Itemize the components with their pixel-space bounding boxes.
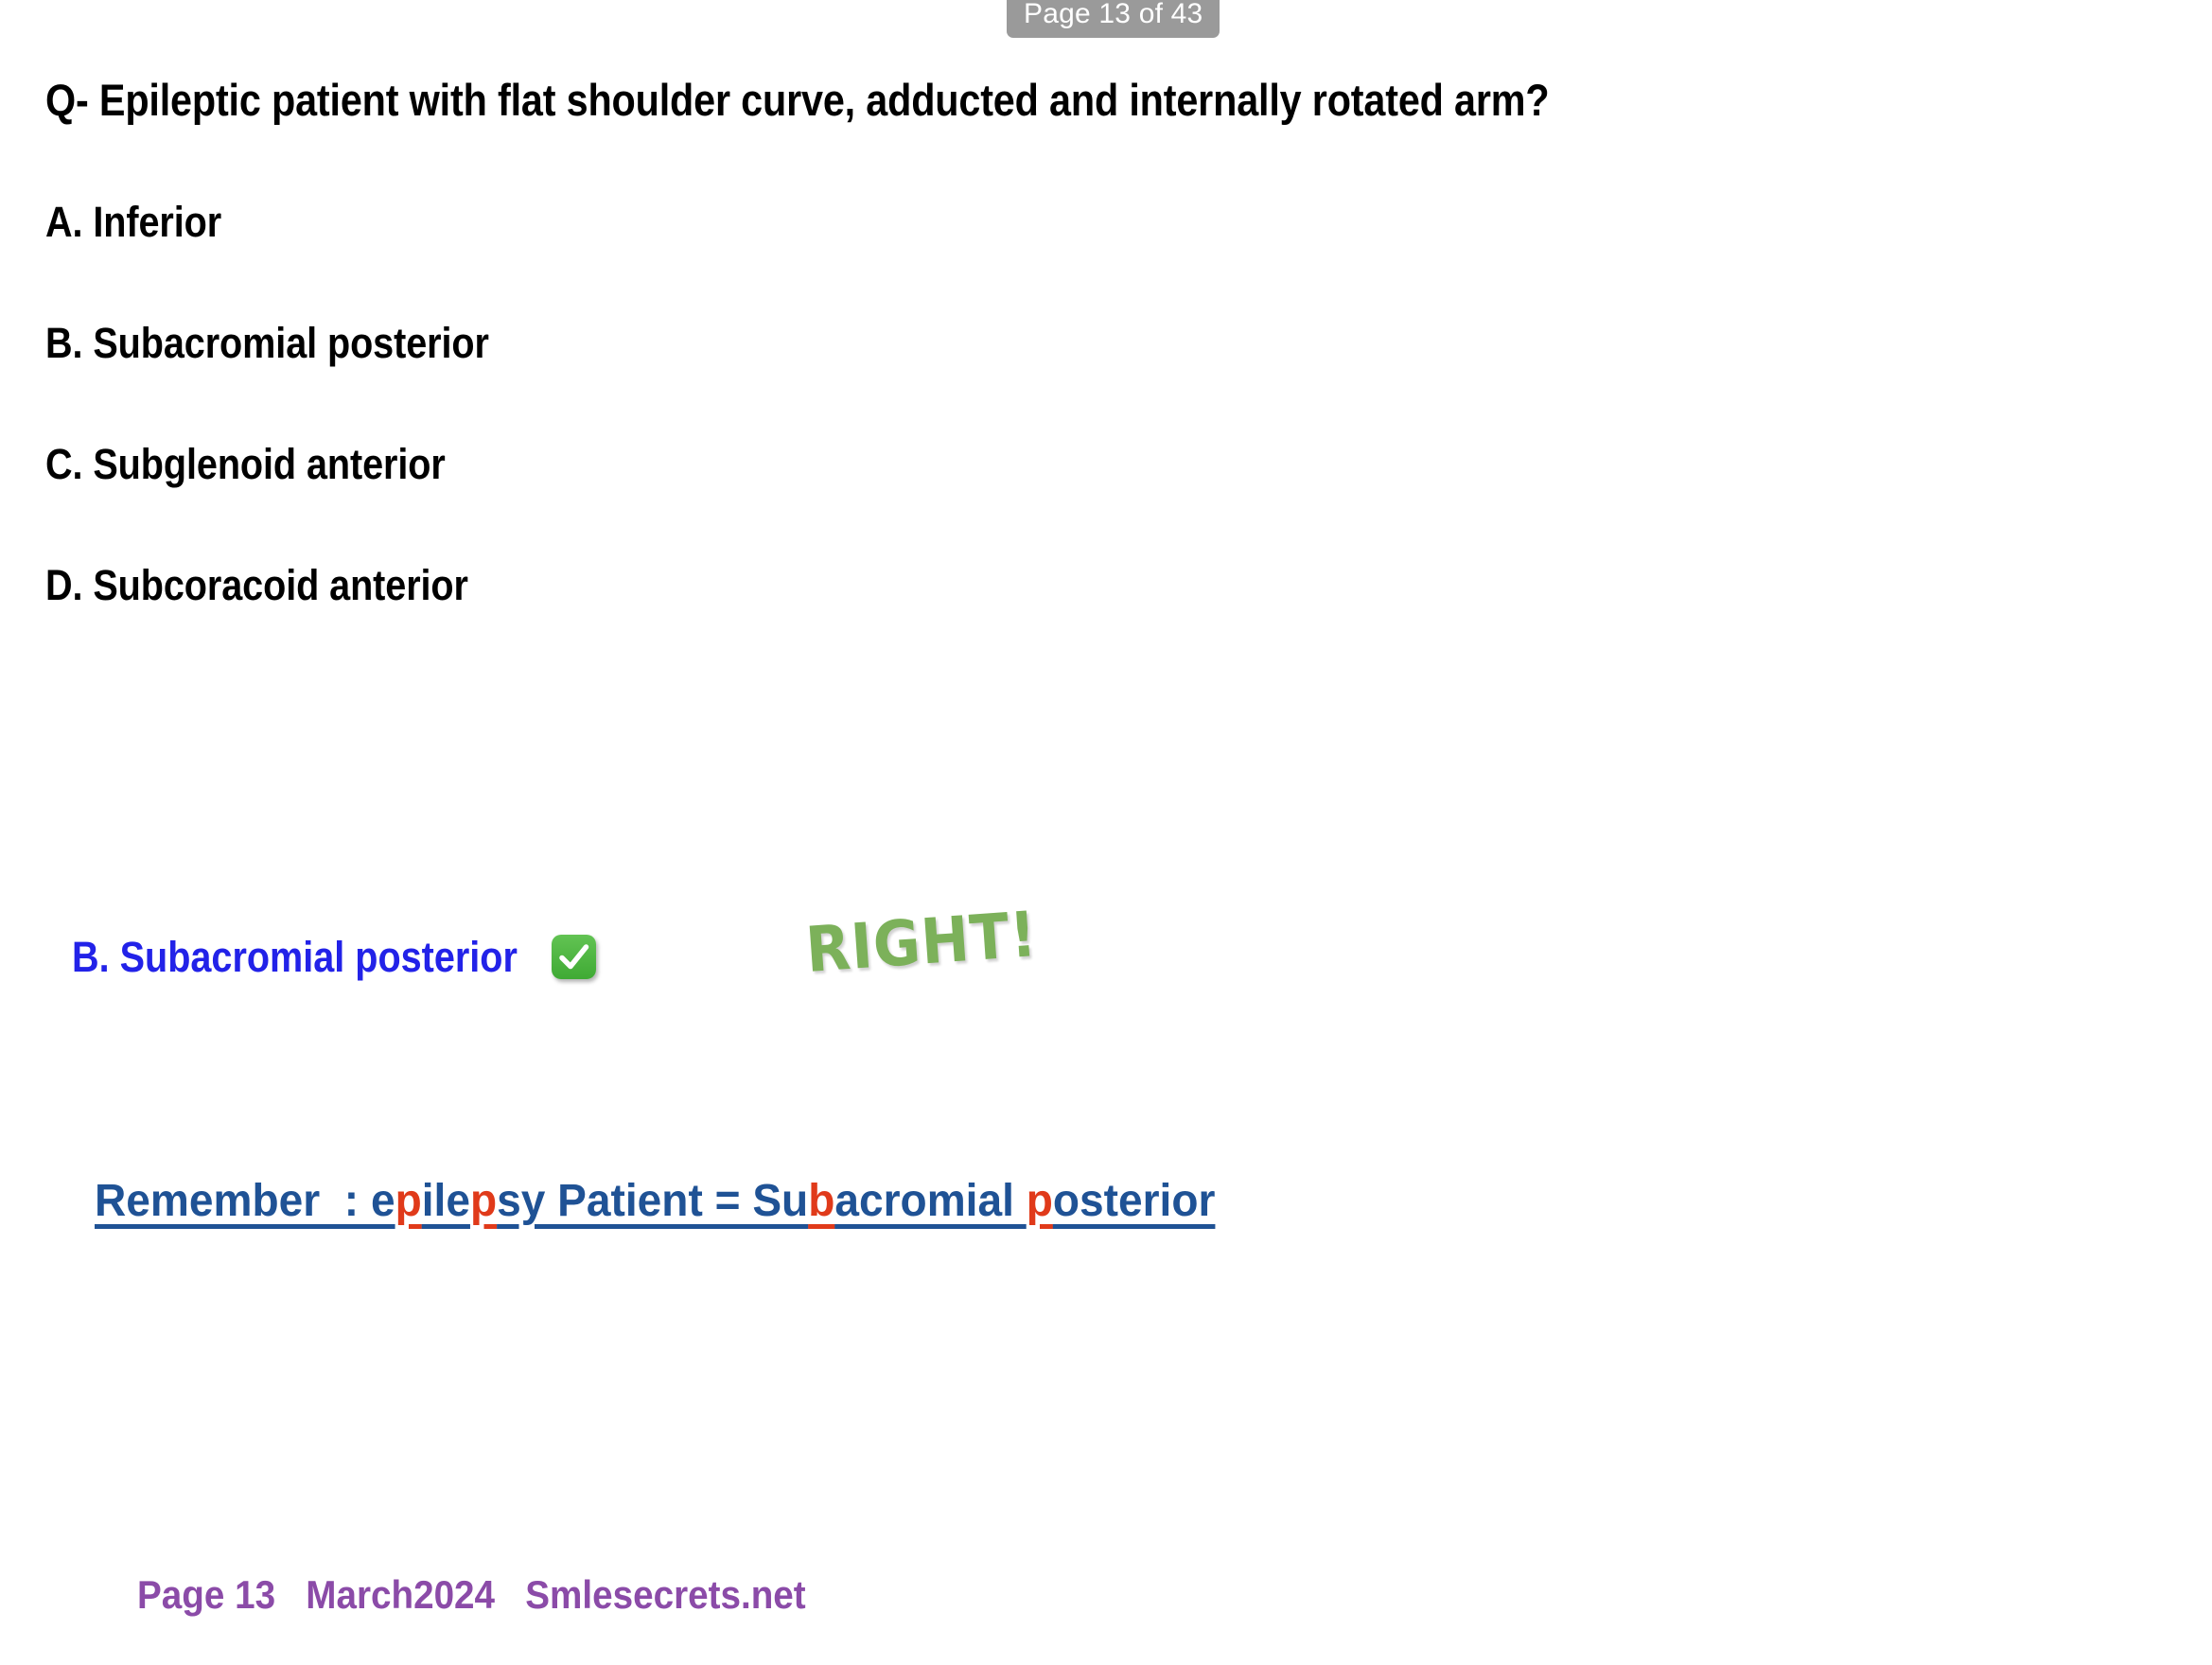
question-text: Q- Epileptic patient with flat shoulder … bbox=[45, 78, 1549, 122]
correct-answer-text: B. Subacromial posterior bbox=[72, 936, 518, 978]
mnemonic-highlight: p bbox=[470, 1176, 497, 1226]
mnemonic-text: Remember : epilepsy Patient = Subacromia… bbox=[95, 1179, 1215, 1224]
mnemonic-segment: ile bbox=[422, 1176, 470, 1226]
mnemonic-highlight: b bbox=[808, 1176, 834, 1226]
slide-footer: Page 13 March2024 Smlesecrets.net bbox=[137, 1575, 806, 1615]
slide-content: Q- Epileptic patient with flat shoulder … bbox=[0, 0, 2212, 1665]
mnemonic-highlight: p bbox=[395, 1176, 422, 1226]
right-annotation-sticker: RIGHT! bbox=[804, 903, 1040, 982]
option-b[interactable]: B. Subacromial posterior bbox=[45, 322, 489, 364]
correct-answer-row: B. Subacromial posterior bbox=[72, 935, 596, 979]
mnemonic-segment: osterior bbox=[1053, 1176, 1216, 1226]
option-d[interactable]: D. Subcoracoid anterior bbox=[45, 564, 468, 606]
option-c[interactable]: C. Subglenoid anterior bbox=[45, 443, 446, 485]
mnemonic-segment: acromial bbox=[834, 1176, 1026, 1226]
mnemonic-segment: sy Patient = Su bbox=[497, 1176, 808, 1226]
mnemonic-segment: Remember : e bbox=[95, 1176, 395, 1226]
mnemonic-highlight: p bbox=[1027, 1176, 1053, 1226]
white-heavy-check-mark-icon bbox=[552, 935, 596, 979]
option-a[interactable]: A. Inferior bbox=[45, 201, 221, 243]
